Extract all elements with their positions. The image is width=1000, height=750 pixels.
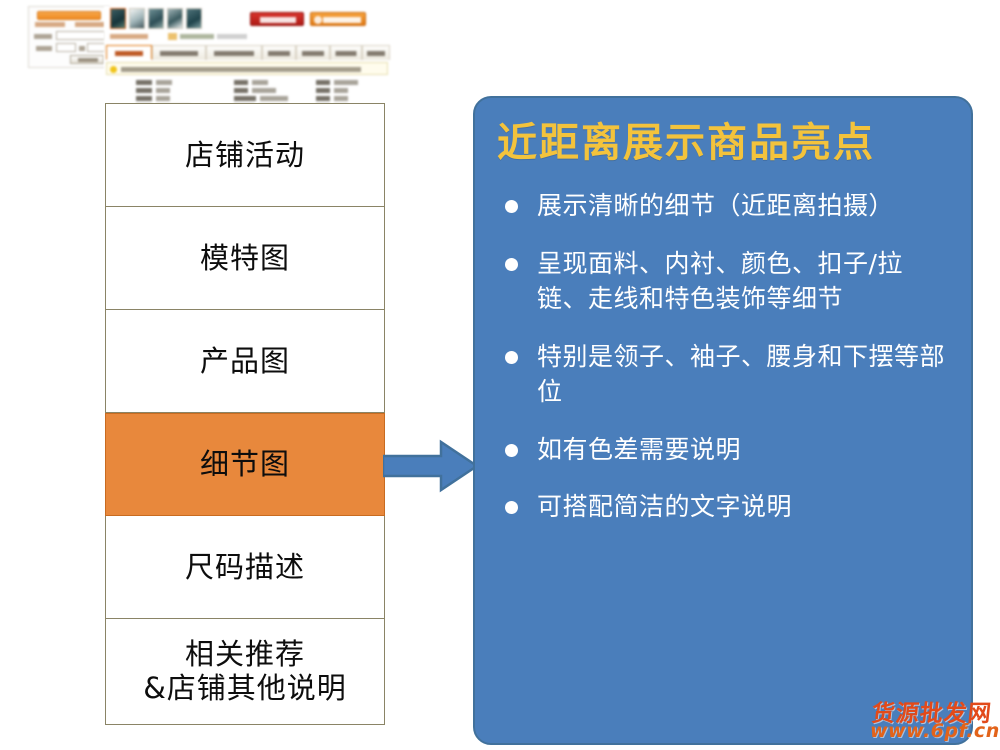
flow-box-label: 相关推荐 xyxy=(143,637,347,671)
backdrop-keyword-row xyxy=(32,31,108,41)
panel-title: 近距离展示商品亮点 xyxy=(475,98,971,166)
backdrop-add-to-cart-button xyxy=(310,12,366,26)
bullet-item: 呈现面料、内衬、颜色、扣子/拉链、走线和特色装饰等细节 xyxy=(501,246,947,317)
backdrop-price-row xyxy=(32,43,108,53)
backdrop-filter-panel xyxy=(28,6,110,68)
flow-box-shop-activity[interactable]: 店铺活动 xyxy=(106,104,384,207)
bullet-item: 如有色差需要说明 xyxy=(501,432,947,468)
flow-box-label-secondary: &店铺其他说明 xyxy=(143,671,347,705)
backdrop-shop-button xyxy=(37,11,101,20)
backdrop-product-detail xyxy=(104,6,390,110)
flow-box-product-photo[interactable]: 产品图 xyxy=(106,310,384,413)
backdrop-sublinks xyxy=(110,33,270,41)
backdrop-filter-submit xyxy=(70,55,104,64)
backdrop-notice-bar xyxy=(106,62,388,75)
flow-box-label: 尺码描述 xyxy=(185,550,305,584)
backdrop-thumbnail-strip xyxy=(110,8,202,30)
highlight-panel: 近距离展示商品亮点 展示清晰的细节（近距离拍摄） 呈现面料、内衬、颜色、扣子/拉… xyxy=(473,96,973,745)
flow-box-label: 模特图 xyxy=(200,241,290,275)
bullet-item: 可搭配简洁的文字说明 xyxy=(501,489,947,525)
flow-box-detail-photo[interactable]: 细节图 xyxy=(105,413,385,516)
flow-box-related-recommend[interactable]: 相关推荐 &店铺其他说明 xyxy=(106,619,384,723)
panel-bullet-list: 展示清晰的细节（近距离拍摄） 呈现面料、内衬、颜色、扣子/拉链、走线和特色装饰等… xyxy=(475,188,971,525)
slide-canvas: 店铺活动 模特图 产品图 细节图 尺码描述 相关推荐 &店铺其他说明 近距离展示… xyxy=(0,0,1000,750)
flow-box-label: 店铺活动 xyxy=(185,138,305,172)
bullet-item: 展示清晰的细节（近距离拍摄） xyxy=(501,188,947,224)
flow-box-size-description[interactable]: 尺码描述 xyxy=(106,516,384,619)
page-structure-flowchart: 店铺活动 模特图 产品图 细节图 尺码描述 相关推荐 &店铺其他说明 xyxy=(105,103,385,725)
flow-box-model-photo[interactable]: 模特图 xyxy=(106,207,384,310)
flow-box-label: 细节图 xyxy=(200,447,290,481)
info-icon xyxy=(110,66,117,73)
bullet-item: 特别是领子、袖子、腰身和下摆等部位 xyxy=(501,339,947,410)
flow-box-label: 产品图 xyxy=(200,344,290,378)
backdrop-tabbar xyxy=(106,45,388,60)
backdrop-buy-now-button xyxy=(250,12,304,26)
right-block-arrow-icon xyxy=(383,438,479,494)
backdrop-link-row xyxy=(33,22,107,28)
